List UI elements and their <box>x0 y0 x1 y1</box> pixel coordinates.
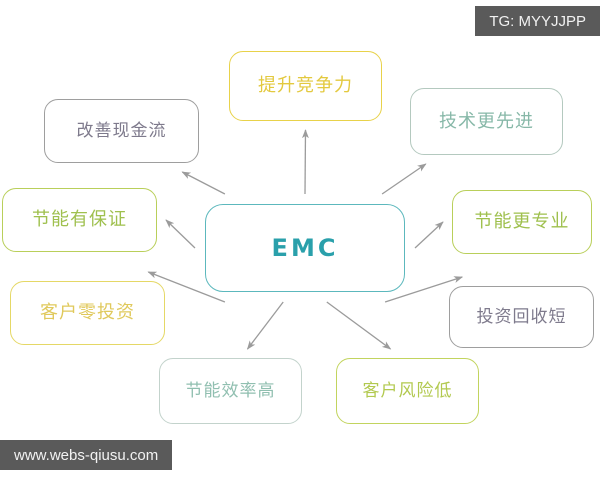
node-label-improve-cash-flow: 改善现金流 <box>77 122 167 141</box>
arrow-to-improve-cash-flow <box>182 172 225 194</box>
center-node-label: EMC <box>272 235 339 261</box>
center-node-emc[interactable]: EMC <box>205 204 405 292</box>
arrow-to-guaranteed-energy-saving <box>166 220 195 248</box>
node-guaranteed-energy-saving[interactable]: 节能有保证 <box>2 188 157 252</box>
node-professional-energy-saving[interactable]: 节能更专业 <box>452 190 592 254</box>
node-label-high-energy-efficiency: 节能效率高 <box>186 382 276 401</box>
watermark-top-right-text: TG: MYYJJPP <box>489 13 586 30</box>
watermark-top-right: TG: MYYJJPP <box>475 6 600 36</box>
node-low-customer-risk[interactable]: 客户风险低 <box>336 358 479 424</box>
node-zero-customer-investment[interactable]: 客户零投资 <box>10 281 165 345</box>
node-label-short-payback: 投资回收短 <box>477 308 567 327</box>
watermark-bottom-left-text: www.webs-qiusu.com <box>14 447 158 464</box>
watermark-bottom-left: www.webs-qiusu.com <box>0 440 172 470</box>
node-label-guaranteed-energy-saving: 节能有保证 <box>32 210 127 230</box>
node-label-boost-competitiveness: 提升竞争力 <box>258 76 353 96</box>
node-label-professional-energy-saving: 节能更专业 <box>475 212 570 232</box>
node-short-payback[interactable]: 投资回收短 <box>449 286 594 348</box>
node-improve-cash-flow[interactable]: 改善现金流 <box>44 99 199 163</box>
arrow-to-high-energy-efficiency <box>248 302 284 349</box>
arrow-to-low-customer-risk <box>327 302 391 349</box>
node-high-energy-efficiency[interactable]: 节能效率高 <box>159 358 302 424</box>
node-label-advanced-technology: 技术更先进 <box>439 112 534 132</box>
node-advanced-technology[interactable]: 技术更先进 <box>410 88 563 155</box>
node-boost-competitiveness[interactable]: 提升竞争力 <box>229 51 382 121</box>
arrow-to-professional-energy-saving <box>415 222 443 248</box>
arrow-to-boost-competitiveness <box>305 130 306 194</box>
node-label-low-customer-risk: 客户风险低 <box>363 382 453 401</box>
arrow-to-advanced-technology <box>382 164 426 194</box>
diagram-canvas: EMC TG: MYYJJPP www.webs-qiusu.com 改善现金流… <box>0 0 600 480</box>
node-label-zero-customer-investment: 客户零投资 <box>40 303 135 323</box>
